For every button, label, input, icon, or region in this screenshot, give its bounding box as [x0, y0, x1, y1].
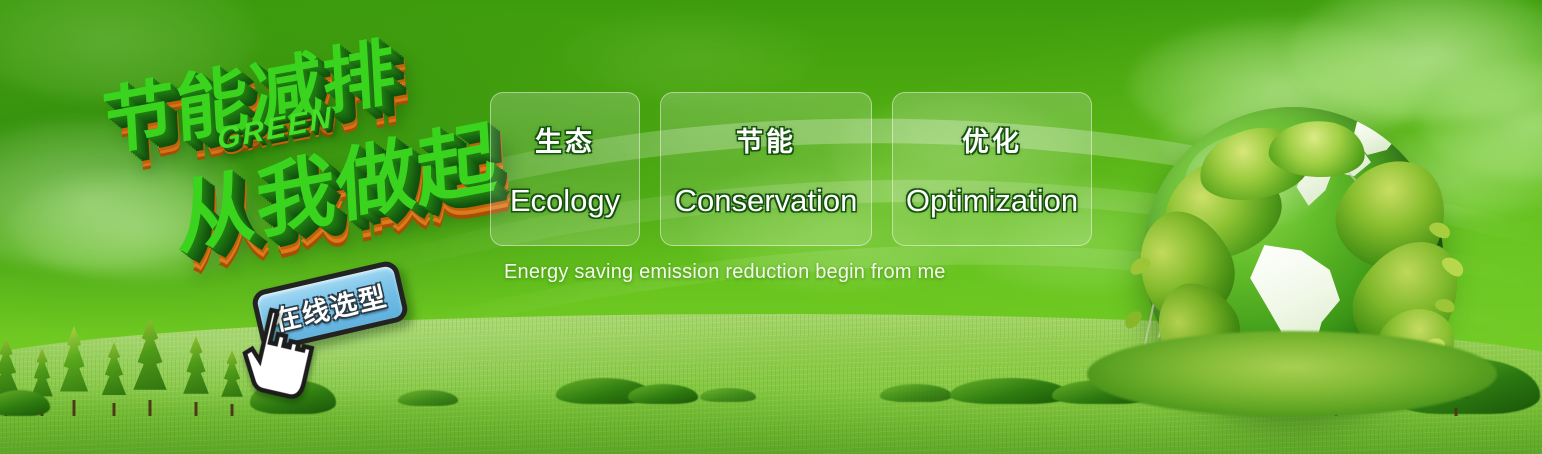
- green-energy-banner: 节能减排 GREEN 从我做起 在线选型 生态 Ecology 节能 Conse…: [0, 0, 1542, 454]
- feature-card-optimization[interactable]: 优化 Optimization: [892, 92, 1092, 246]
- feature-cards: 生态 Ecology 节能 Conservation 优化 Optimizati…: [490, 92, 1092, 246]
- feature-card-optimization-en: Optimization: [906, 183, 1078, 219]
- green-globe-icon: [1143, 107, 1443, 407]
- continent-north-america: [1251, 131, 1371, 209]
- globe-leaf-base: [1087, 331, 1497, 417]
- feature-card-ecology-en: Ecology: [510, 183, 620, 219]
- continent-west-africa: [1359, 203, 1425, 275]
- tagline: Energy saving emission reduction begin f…: [504, 261, 946, 284]
- feature-card-conservation-cn: 节能: [736, 120, 796, 159]
- continent-fragment-left: [1161, 209, 1221, 263]
- headline-3d: 节能减排 GREEN 从我做起: [90, 23, 502, 275]
- globe-sea-patch: [1311, 143, 1350, 167]
- feature-card-ecology[interactable]: 生态 Ecology: [490, 92, 640, 246]
- feature-card-conservation[interactable]: 节能 Conservation: [660, 92, 872, 246]
- feature-card-ecology-cn: 生态: [535, 120, 595, 159]
- feature-card-optimization-cn: 优化: [962, 120, 1022, 159]
- feature-card-conservation-en: Conservation: [675, 183, 858, 219]
